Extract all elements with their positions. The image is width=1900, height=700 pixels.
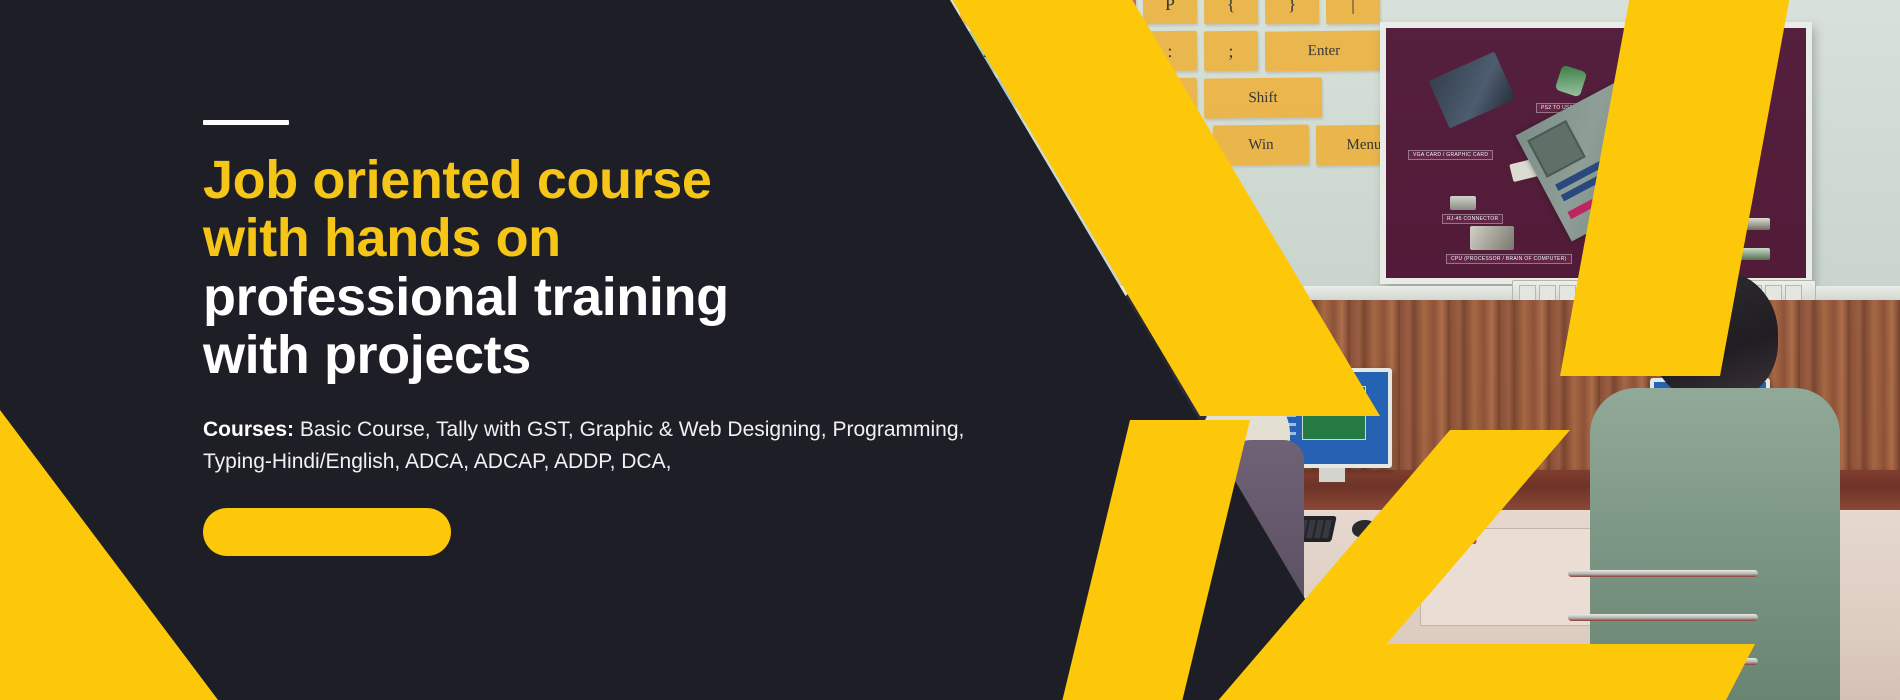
headline-line-2: with hands on: [203, 209, 1023, 267]
headline-line-4: with projects: [203, 326, 1023, 384]
ps2-usb-converter-image: [1555, 65, 1588, 98]
page-title: Job oriented course with hands on profes…: [203, 151, 1023, 384]
headline-line-1: Job oriented course: [203, 151, 1023, 209]
headline-line-3: professional training: [203, 268, 1023, 326]
cpu-processor-image: [1470, 226, 1514, 250]
rj45-connector-image: [1450, 196, 1476, 210]
courses-paragraph: Courses: Basic Course, Tally with GST, G…: [203, 414, 993, 478]
sticky-note: }: [1265, 0, 1319, 24]
sticky-note: P: [1143, 0, 1197, 24]
sticky-note: Shift: [1204, 77, 1322, 118]
poster-label: VGA CARD / GRAPHIC CARD: [1408, 150, 1493, 160]
poster-label: RJ-45 CONNECTOR: [1442, 214, 1503, 224]
sticky-note: Win: [1213, 124, 1309, 165]
heading-divider-rule: [203, 120, 289, 125]
courses-list: Basic Course, Tally with GST, Graphic & …: [203, 418, 964, 473]
banner-content: Job oriented course with hands on profes…: [203, 120, 1023, 561]
promo-banner: U I O P { } | J K L : ; Enter M: [0, 0, 1900, 700]
graphics-card-image: [1429, 52, 1516, 129]
sticky-note: {: [1204, 0, 1258, 24]
sticky-note: |: [1326, 0, 1380, 24]
sticky-note: ;: [1204, 31, 1258, 72]
sticky-note: Enter: [1265, 30, 1383, 71]
yellow-diagonal-stripe: [1285, 644, 1755, 700]
cta-button[interactable]: [203, 508, 451, 556]
courses-label: Courses:: [203, 418, 294, 441]
poster-label: CPU (PROCESSOR / BRAIN OF COMPUTER): [1446, 254, 1572, 264]
